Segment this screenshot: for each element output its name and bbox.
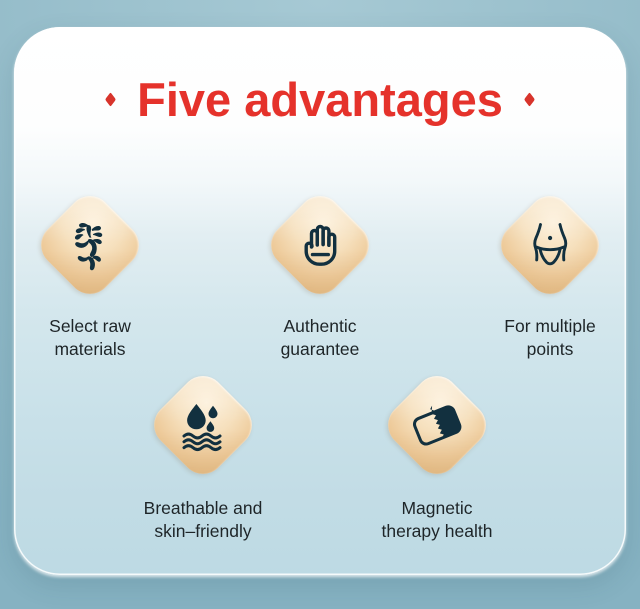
page-title-row: Five advantages: [0, 76, 640, 123]
feature-caption: For multiple points: [504, 315, 595, 361]
diamond-bullet-right-icon: [524, 92, 535, 107]
caption-line-2: guarantee: [281, 338, 360, 361]
badge-for-multiple-points: [491, 186, 609, 304]
feature-caption: Select raw materials: [49, 315, 131, 361]
caption-line-1: For multiple: [504, 316, 595, 336]
feature-for-multiple-points: For multiple points: [464, 186, 636, 361]
caption-line-1: Select raw: [49, 316, 131, 336]
caption-line-2: skin–friendly: [144, 520, 263, 543]
caption-line-2: therapy health: [382, 520, 493, 543]
feature-authentic-guarantee: Authentic guarantee: [234, 186, 406, 361]
badge-authentic-guarantee: [261, 186, 379, 304]
badge-magnetic-therapy-health: [378, 366, 496, 484]
feature-row-bottom: Breathable and skin–friendly Magnetic th…: [0, 366, 640, 543]
ginger-root-icon: [58, 213, 122, 277]
badge-select-raw-materials: [31, 186, 149, 304]
caption-line-2: points: [504, 338, 595, 361]
diamond-bullet-left-icon: [105, 92, 116, 107]
belly-waist-icon: [518, 213, 582, 277]
caption-line-2: materials: [49, 338, 131, 361]
page-title: Five advantages: [137, 76, 503, 123]
open-hand-icon: [288, 213, 352, 277]
feature-magnetic-therapy-health: Magnetic therapy health: [351, 366, 523, 543]
badge-breathable-skin-friendly: [144, 366, 262, 484]
caption-line-1: Breathable and: [144, 498, 263, 518]
advantages-poster: Five advantages: [0, 0, 640, 609]
feature-row-top: Select raw materials Authentic: [0, 186, 640, 361]
caption-line-1: Authentic: [284, 316, 357, 336]
feature-caption: Magnetic therapy health: [382, 497, 493, 543]
caption-line-1: Magnetic: [401, 498, 472, 518]
magnet-patch-icon: [405, 393, 469, 457]
feature-caption: Authentic guarantee: [281, 315, 360, 361]
feature-breathable-skin-friendly: Breathable and skin–friendly: [117, 366, 289, 543]
feature-select-raw-materials: Select raw materials: [4, 186, 176, 361]
feature-caption: Breathable and skin–friendly: [144, 497, 263, 543]
water-drop-waves-icon: [171, 393, 235, 457]
